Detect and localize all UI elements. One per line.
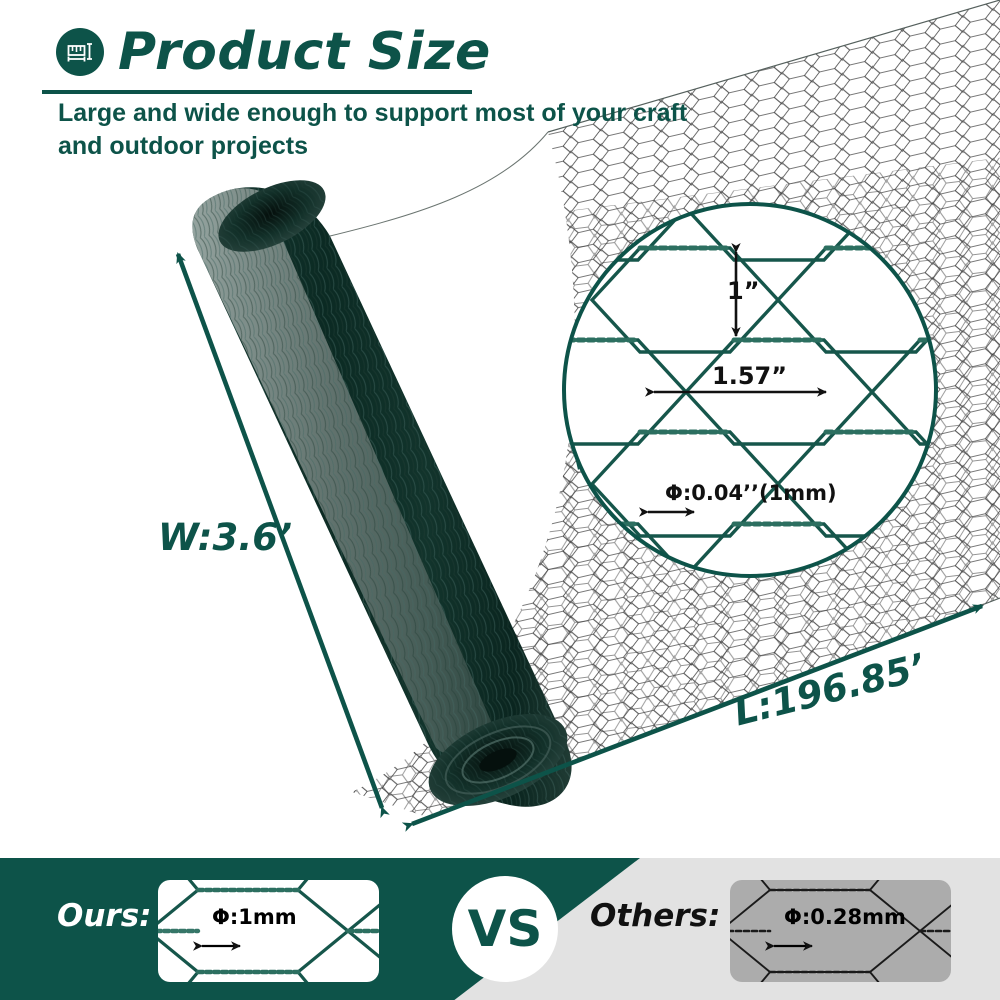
wire-diameter-label: Φ:0.04’’(1mm) — [665, 481, 837, 505]
vs-label: VS — [468, 904, 543, 954]
header: Product Size Large and wide enough to su… — [0, 0, 1000, 170]
page-subtitle: Large and wide enough to support most of… — [58, 97, 698, 163]
others-diameter-value: Φ:0.28mm — [784, 905, 906, 929]
ours-mesh-panel — [158, 880, 379, 982]
mesh-roll — [192, 132, 581, 825]
ours-label: Ours: — [57, 898, 152, 934]
ruler-measure-icon — [56, 28, 104, 76]
others-label: Others: — [590, 898, 720, 934]
width-label: W:3.6’ — [158, 516, 292, 559]
vs-badge: VS — [452, 876, 558, 982]
title-underline — [42, 90, 472, 94]
cell-height-label: 1” — [727, 277, 759, 305]
page-title: Product Size — [118, 26, 491, 78]
ours-diameter-value: Φ:1mm — [212, 905, 297, 929]
comparison-band: Ours: Φ:1mm VS Others: — [0, 858, 1000, 1000]
cell-width-label: 1.57” — [712, 362, 787, 390]
infographic-root: Product Size Large and wide enough to su… — [0, 0, 1000, 1000]
title-row: Product Size — [56, 26, 491, 78]
others-mesh-panel — [730, 880, 951, 982]
